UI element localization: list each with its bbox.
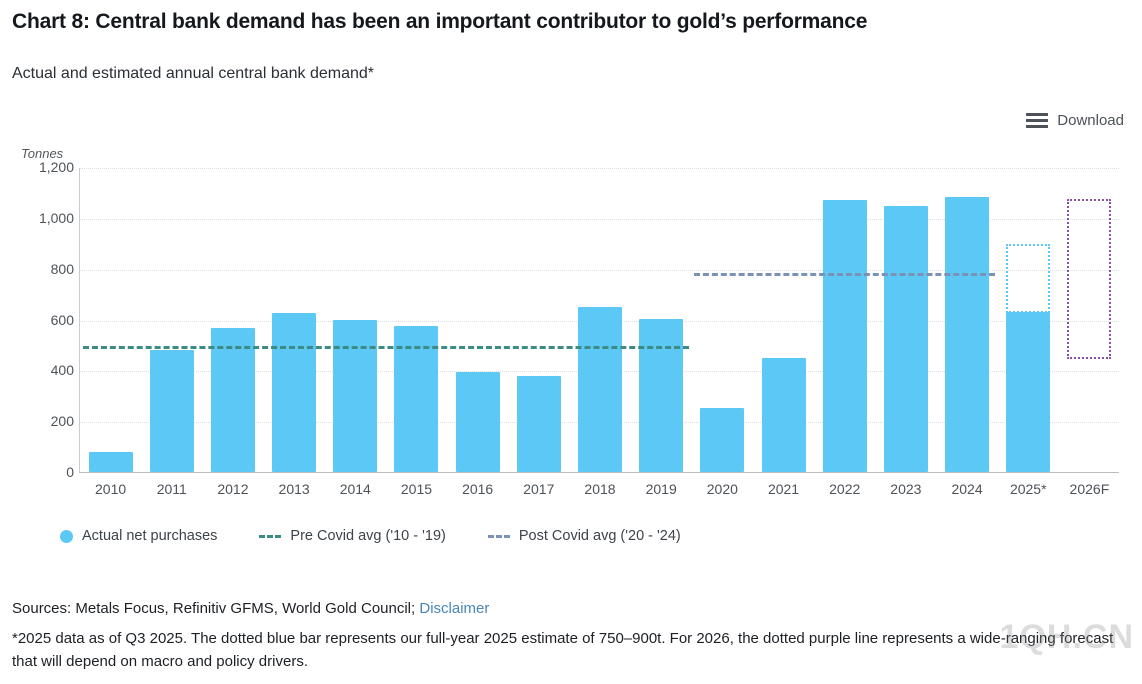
bar[interactable] (700, 408, 744, 472)
y-axis-tick-label: 0 (14, 464, 74, 480)
bar[interactable] (89, 452, 133, 472)
legend-label: Pre Covid avg ('10 - '19) (290, 528, 445, 544)
bar[interactable] (823, 200, 867, 472)
y-axis-tick-label: 1,200 (14, 159, 74, 175)
chart-legend: Actual net purchasesPre Covid avg ('10 -… (60, 528, 681, 544)
estimate-range-box[interactable] (1006, 244, 1050, 313)
hamburger-icon (1026, 113, 1048, 128)
legend-dot-icon (60, 530, 73, 543)
legend-dash-icon (259, 535, 281, 538)
average-reference-line (83, 346, 690, 349)
plot-area: 2010201120122013201420152016201720182019… (79, 168, 1119, 473)
page-subtitle: Actual and estimated annual central bank… (12, 65, 374, 83)
y-axis-tick-label: 600 (14, 312, 74, 328)
bar[interactable] (945, 197, 989, 472)
page-title: Chart 8: Central bank demand has been an… (12, 10, 867, 34)
bar[interactable] (150, 350, 194, 472)
bar[interactable] (517, 376, 561, 472)
bar[interactable] (578, 307, 622, 472)
x-axis-tick-label: 2026F (1050, 481, 1128, 497)
legend-dash-icon (488, 535, 510, 538)
sources-text: Sources: Metals Focus, Refinitiv GFMS, W… (12, 600, 419, 617)
bar[interactable] (333, 320, 377, 473)
bar[interactable] (456, 372, 500, 472)
legend-label: Post Covid avg ('20 - '24) (519, 528, 681, 544)
sources-line: Sources: Metals Focus, Refinitiv GFMS, W… (12, 600, 1137, 617)
y-axis-tick-label: 800 (14, 261, 74, 277)
bar[interactable] (211, 328, 255, 472)
bar[interactable] (639, 319, 683, 472)
chart-container: Tonnes 201020112012201320142015201620172… (0, 140, 1142, 520)
bar[interactable] (272, 313, 316, 472)
bar[interactable] (884, 206, 928, 472)
legend-item[interactable]: Post Covid avg ('20 - '24) (488, 528, 681, 544)
bar[interactable] (762, 358, 806, 472)
download-label: Download (1057, 112, 1124, 129)
footnote-text: *2025 data as of Q3 2025. The dotted blu… (12, 627, 1137, 674)
average-reference-line (694, 273, 995, 276)
bar[interactable] (1006, 312, 1050, 472)
footer: Sources: Metals Focus, Refinitiv GFMS, W… (12, 600, 1137, 674)
y-axis-tick-label: 1,000 (14, 210, 74, 226)
download-button[interactable]: Download (1026, 112, 1124, 129)
legend-item[interactable]: Pre Covid avg ('10 - '19) (259, 528, 445, 544)
legend-item[interactable]: Actual net purchases (60, 528, 217, 544)
legend-label: Actual net purchases (82, 528, 217, 544)
gridline (80, 168, 1119, 169)
disclaimer-link[interactable]: Disclaimer (419, 600, 489, 617)
y-axis-tick-label: 400 (14, 362, 74, 378)
y-axis-tick-label: 200 (14, 413, 74, 429)
forecast-range-box[interactable] (1067, 199, 1111, 359)
